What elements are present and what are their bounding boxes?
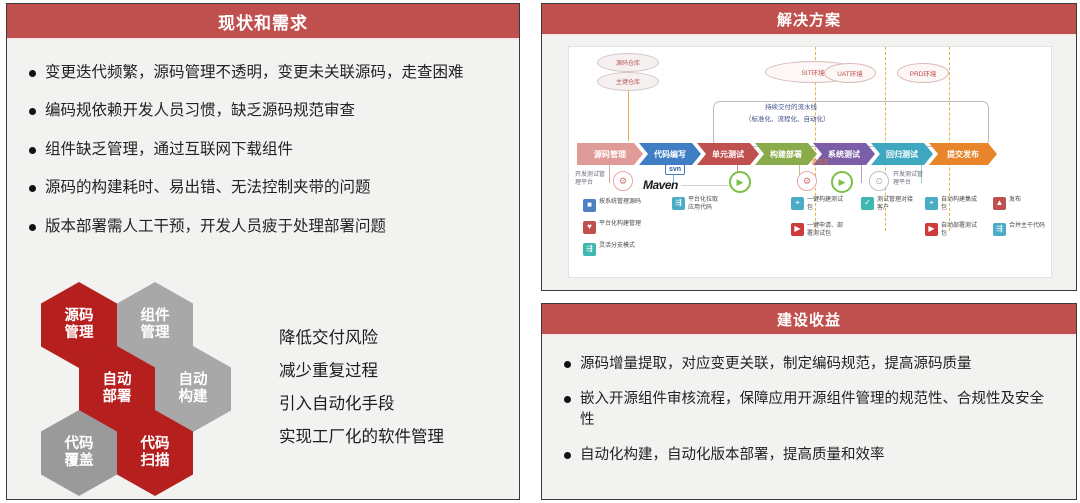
play-icon[interactable]: ▶ (729, 171, 751, 193)
bullet-text: 嵌入开源组件审核流程，保障应用开源组件管理的规范性、合规性及安全性 (580, 389, 1056, 431)
gauge-icon: ⏲ (869, 171, 889, 191)
list-item: 嵌入开源组件审核流程，保障应用开源组件管理的规范性、合规性及安全性 (564, 389, 1056, 431)
stage-connector (609, 165, 610, 183)
stage-regression-test[interactable]: 回归测试 (871, 143, 933, 165)
feature-label: 按系统管理源码 (599, 199, 641, 207)
cicd-pipeline-diagram: 源码仓库 主键仓库 SIT环境 UAT环境 PRD环境 持续交付的流水线 （标准… (568, 46, 1052, 278)
hexagon-label-line1: 源码 (65, 308, 94, 325)
platform-label-left: 开发测试管理平台 (575, 171, 605, 187)
list-item: 版本部署需人工干预，开发人员疲于处理部署问题 (29, 216, 501, 238)
capability-hexagon-cluster: 源码 管理 组件 管理 自动 部署 自动 构建 代码 覆盖 (31, 278, 256, 503)
feature-label: 自动部署测试 包 (941, 223, 977, 239)
panel-solution-body: 源码仓库 主键仓库 SIT环境 UAT环境 PRD环境 持续交付的流水线 （标准… (542, 36, 1076, 290)
bullet-dot-icon (29, 70, 36, 77)
repo-pill-build: 主键仓库 (597, 72, 659, 91)
bullet-dot-icon (29, 224, 36, 231)
goal-text-list: 降低交付风险 减少重复过程 引入自动化手段 实现工厂化的软件管理 (279, 322, 444, 454)
gear-icon: ⚙ (613, 171, 633, 191)
grid-icon: ■ (583, 199, 596, 212)
stage-source-management[interactable]: 源码管理 (577, 143, 643, 165)
feature-label: 平台化构建管理 (599, 221, 641, 229)
play-icon: ▶ (791, 223, 804, 236)
list-item: 编码规依赖开发人员习惯，缺乏源码规范审查 (29, 100, 501, 122)
share-icon: ⌖ (791, 197, 804, 210)
goal-line: 减少重复过程 (279, 355, 444, 388)
bullet-dot-icon (564, 361, 571, 368)
panel-benefit-title: 建设收益 (542, 304, 1076, 336)
bullet-text: 组件缺乏管理，通过互联网下载组件 (45, 139, 293, 161)
list-item: 自动化构建，自动化版本部署，提高质量和效率 (564, 445, 1056, 466)
branch-icon: ⇶ (583, 243, 596, 256)
list-item: 源码的构建耗时、易出错、无法控制夹带的问题 (29, 177, 501, 199)
feature-item: ⇶ 平台化拉取 应用代码 (672, 197, 718, 213)
repo-connector (628, 91, 629, 141)
bullet-text: 编码规依赖开发人员习惯，缺乏源码规范审查 (45, 100, 355, 122)
pipeline-caption-line2: （标准化、流程化、自动化） (745, 115, 830, 124)
slide-canvas: 现状和需求 变更迭代频繁，源码管理不透明，变更未关联源码，走查困难 编码规依赖开… (0, 0, 1080, 503)
bullet-text: 自动化构建，自动化版本部署，提高质量和效率 (580, 445, 885, 466)
hexagon-label-line1: 代码 (141, 436, 170, 453)
check-icon: ✓ (861, 197, 874, 210)
feature-label: 平台化拉取 应用代码 (688, 197, 718, 213)
stage-build-deploy[interactable]: 构建部署 (755, 143, 817, 165)
hexagon-label-line2: 构建 (179, 389, 208, 406)
play-icon: ▶ (925, 223, 938, 236)
bullet-text: 版本部署需人工干预，开发人员疲于处理部署问题 (45, 216, 386, 238)
feature-label: 自动构建集成 包 (941, 197, 977, 213)
hexagon-label-line2: 部署 (103, 389, 132, 406)
maven-logo: Maven (643, 178, 678, 192)
feature-item: ⇶ 合并主干代码 (993, 223, 1045, 236)
panel-solution-title: 解决方案 (542, 4, 1076, 36)
hexagon-label-line2: 管理 (65, 325, 94, 342)
panel-benefit: 建设收益 源码增量提取，对应变更关联，制定编码规范，提高源码质量 嵌入开源组件审… (541, 303, 1077, 500)
hexagon-label-line1: 自动 (179, 372, 208, 389)
branch-icon: ⇶ (672, 197, 685, 210)
hexagon-label-line1: 代码 (65, 436, 94, 453)
bullet-text: 源码的构建耗时、易出错、无法控制夹带的问题 (45, 177, 371, 199)
stage-code-writing[interactable]: 代码编写 (639, 143, 701, 165)
feature-item: ⇶ 灵活分支模式 (583, 243, 635, 256)
feature-item: ⌖ 一键构建测试 包 (791, 197, 843, 213)
bullet-dot-icon (29, 147, 36, 154)
feature-label: 发布 (1009, 197, 1021, 205)
benefit-bullet-list: 源码增量提取，对应变更关联，制定编码规范，提高源码质量 嵌入开源组件审核流程，保… (542, 336, 1076, 466)
feature-label: 一键申请、部 署测试包 (807, 223, 843, 239)
bullet-dot-icon (564, 396, 571, 403)
feature-label: 合并主干代码 (1009, 223, 1045, 231)
env-pill-prd: PRD环境 (897, 63, 949, 83)
stage-unit-test[interactable]: 单元测试 (697, 143, 759, 165)
feature-item: ■ 按系统管理源码 (583, 199, 641, 212)
feature-label: 测试管理对接 客户 (877, 197, 913, 213)
gear-icon: ⚙ (797, 171, 817, 191)
list-item: 组件缺乏管理，通过互联网下载组件 (29, 139, 501, 161)
bullet-text: 变更迭代频繁，源码管理不透明，变更未关联源码，走查困难 (45, 62, 464, 84)
stage-connector (861, 165, 862, 183)
hexagon-label-line1: 自动 (103, 372, 132, 389)
list-item: 源码增量提取，对应变更关联，制定编码规范，提高源码质量 (564, 354, 1056, 375)
feature-label: 灵活分支模式 (599, 243, 635, 251)
hexagon-label-line2: 管理 (141, 325, 170, 342)
feature-label: 一键构建测试 包 (807, 197, 843, 213)
feature-item: ✓ 测试管理对接 客户 (861, 197, 913, 213)
pool-label: 源目库 (811, 157, 829, 166)
hexagon-label-line2: 覆盖 (65, 453, 94, 470)
play-icon[interactable]: ▶ (831, 171, 853, 193)
goal-line: 实现工厂化的软件管理 (279, 421, 444, 454)
panel-current-situation: 现状和需求 变更迭代频繁，源码管理不透明，变更未关联源码，走查困难 编码规依赖开… (6, 3, 520, 500)
hexagon-label-line2: 扫描 (141, 453, 170, 470)
goal-line: 引入自动化手段 (279, 388, 444, 421)
bullet-dot-icon (29, 108, 36, 115)
share-icon: ⌖ (925, 197, 938, 210)
pipeline-stage-row: 源码管理 代码编写 单元测试 构建部署 系统测试 回归测试 提交发布 (577, 143, 993, 165)
pipeline-caption-line1: 持续交付的流水线 (765, 103, 817, 112)
svn-icon: svn (665, 164, 685, 175)
panel-benefit-body: 源码增量提取，对应变更关联，制定编码规范，提高源码质量 嵌入开源组件审核流程，保… (542, 336, 1076, 499)
feature-item: ▶ 自动部署测试 包 (925, 223, 977, 239)
platform-label-right: 开发测试管理平台 (893, 171, 923, 187)
panel-current-title: 现状和需求 (7, 4, 519, 40)
rocket-icon: ▲ (993, 197, 1006, 210)
branch-icon: ⇶ (993, 223, 1006, 236)
hexagon-label-line1: 组件 (141, 308, 170, 325)
list-item: 变更迭代频繁，源码管理不透明，变更未关联源码，走查困难 (29, 62, 501, 84)
feature-item: ♥ 平台化构建管理 (583, 221, 641, 234)
feature-item: ⌖ 自动构建集成 包 (925, 197, 977, 213)
bullet-text: 源码增量提取，对应变更关联，制定编码规范，提高源码质量 (580, 354, 972, 375)
goal-line: 降低交付风险 (279, 322, 444, 355)
bullet-dot-icon (564, 452, 571, 459)
panel-current-body: 变更迭代频繁，源码管理不透明，变更未关联源码，走查困难 编码规依赖开发人员习惯，… (7, 40, 519, 499)
current-bullet-list: 变更迭代频繁，源码管理不透明，变更未关联源码，走查困难 编码规依赖开发人员习惯，… (7, 40, 519, 238)
feature-item: ▶ 一键申请、部 署测试包 (791, 223, 843, 239)
panel-solution: 解决方案 源码仓库 主键仓库 SIT环境 UAT环境 PRD环境 持续交付的流水… (541, 3, 1077, 291)
heart-icon: ♥ (583, 221, 596, 234)
maven-arrow (681, 185, 729, 186)
stage-release[interactable]: 提交发布 (929, 143, 997, 165)
repo-pill-source: 源码仓库 (597, 53, 659, 72)
bullet-dot-icon (29, 185, 36, 192)
env-pill-uat: UAT环境 (824, 63, 876, 83)
feature-item: ▲ 发布 (993, 197, 1021, 210)
